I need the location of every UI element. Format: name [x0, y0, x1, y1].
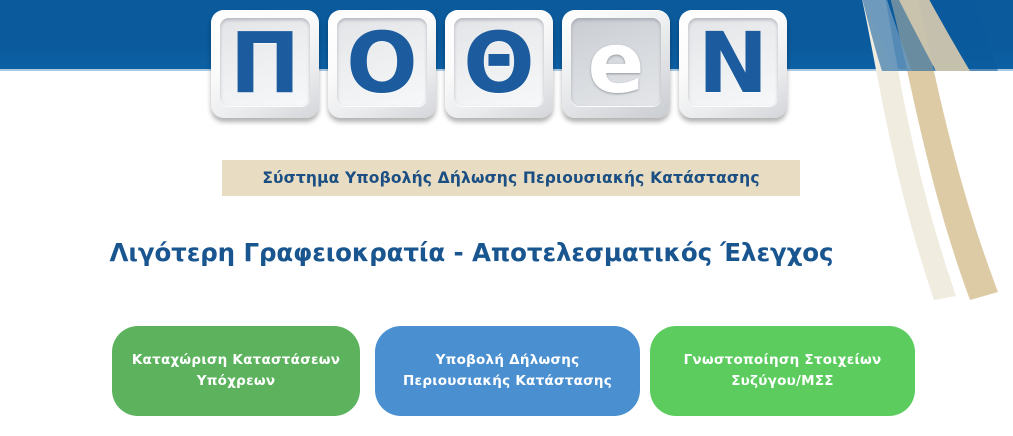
button-ypovoli-dilosis-periousiakis-katastasis[interactable]: Υποβολή Δήλωσης Περιουσιακής Κατάστασης	[375, 326, 640, 416]
button-gnostopoiisi-stoicheion-syzygou-mss[interactable]: Γνωστοποίηση Στοιχείων Συζύγου/ΜΣΣ	[650, 326, 915, 416]
logo-letter-omicron: Ο	[346, 21, 417, 105]
logo-tile-2: Ο	[328, 10, 436, 118]
logo-pothen: Π Ο Θ e Ν	[211, 10, 811, 118]
action-button-row: Καταχώριση Καταστάσεων Υπόχρεων Υποβολή …	[112, 326, 915, 416]
logo-tile-1: Π	[211, 10, 319, 118]
page-root: Π Ο Θ e Ν Σύστημα Υποβολής Δήλωσης Περιο…	[0, 0, 1013, 436]
button-katachorisi-katastaseon-ypochreon[interactable]: Καταχώριση Καταστάσεων Υπόχρεων	[112, 326, 360, 416]
logo-letter-nu: Ν	[698, 21, 768, 105]
logo-tile-4: e	[562, 10, 670, 118]
logo-letter-e: e	[588, 21, 645, 105]
tagline-text: Λιγότερη Γραφειοκρατία - Αποτελεσματικός…	[110, 238, 834, 267]
logo-tile-3: Θ	[445, 10, 553, 118]
tagline: Λιγότερη Γραφειοκρατία - Αποτελεσματικός…	[0, 238, 1013, 267]
logo-letter-pi: Π	[230, 21, 300, 105]
subtitle-banner: Σύστημα Υποβολής Δήλωσης Περιουσιακής Κα…	[222, 160, 800, 196]
subtitle-text: Σύστημα Υποβολής Δήλωσης Περιουσιακής Κα…	[262, 169, 759, 187]
logo-tile-5: Ν	[679, 10, 787, 118]
logo-letter-theta: Θ	[463, 21, 534, 105]
